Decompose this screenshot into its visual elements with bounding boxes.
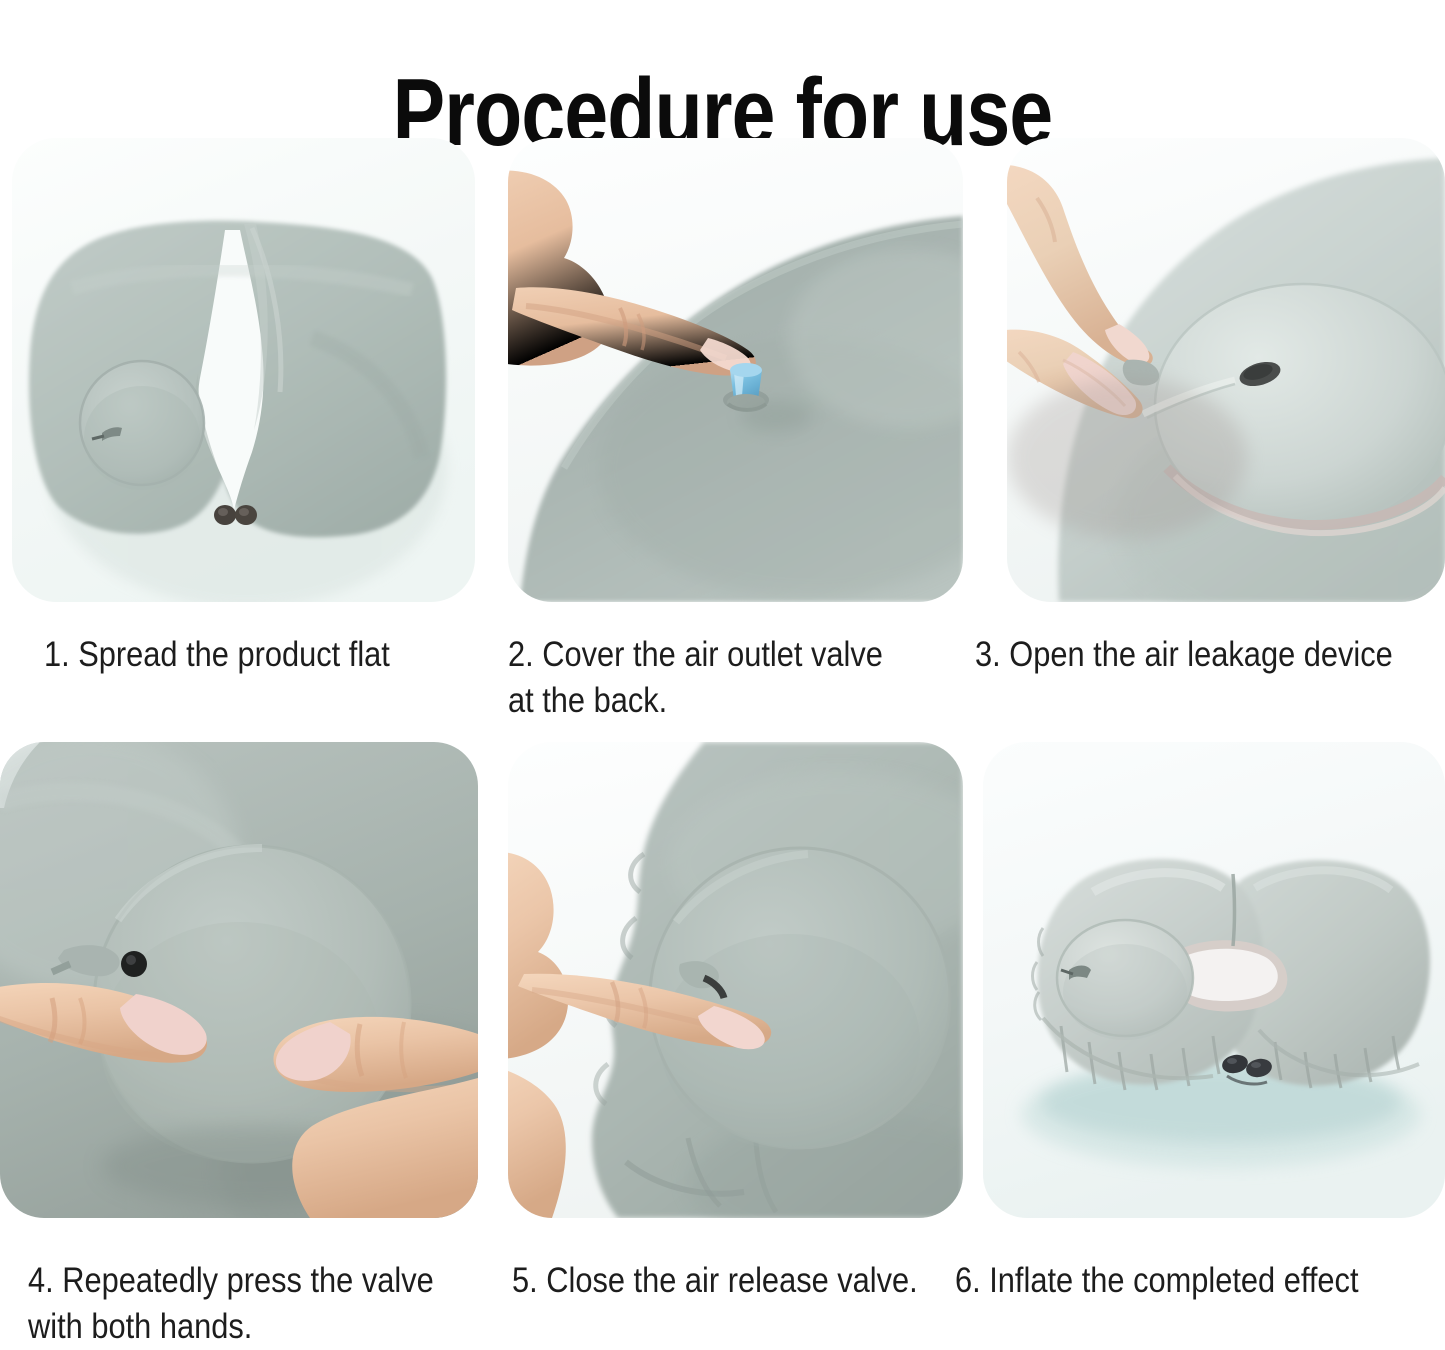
step-6-illustration <box>983 742 1445 1218</box>
step-2-illustration <box>508 138 963 602</box>
step-3-image <box>1007 138 1445 602</box>
step-6-image <box>983 742 1445 1218</box>
step-2-caption: 2. Cover the air outlet valve at the bac… <box>508 632 966 724</box>
step-3-illustration <box>1007 138 1445 602</box>
centre-seam <box>1233 874 1235 946</box>
infographic-page: Procedure for use <box>0 0 1445 1334</box>
step-5-caption: 5. Close the air release valve. <box>512 1258 970 1304</box>
step-5-image <box>508 742 963 1218</box>
step-4-image <box>0 742 478 1218</box>
step-3-caption: 3. Open the air leakage device <box>975 632 1445 678</box>
step-1-caption: 1. Spread the product flat <box>44 632 537 678</box>
step-4-caption: 4. Repeatedly press the valve with both … <box>28 1258 538 1350</box>
step-5-illustration <box>508 742 963 1218</box>
pump-dome <box>1057 920 1193 1040</box>
step-4-illustration <box>0 742 478 1218</box>
step-2-image <box>508 138 963 602</box>
step-6-caption: 6. Inflate the completed effect <box>955 1258 1445 1304</box>
step-1-image <box>12 138 475 602</box>
step-1-illustration <box>12 138 475 602</box>
